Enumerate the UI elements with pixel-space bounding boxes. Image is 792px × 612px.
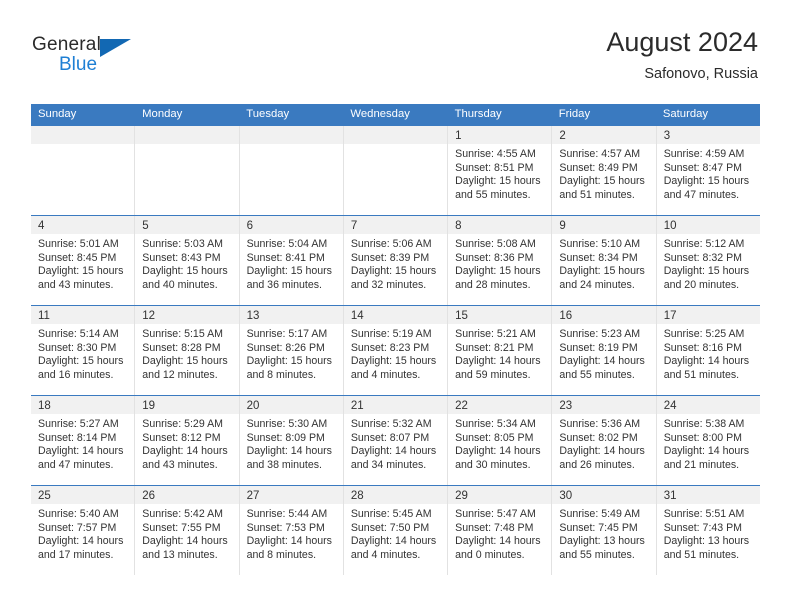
weekday-header-monday: Monday — [135, 104, 239, 125]
calendar-day-cell[interactable]: 30Sunrise: 5:49 AMSunset: 7:45 PMDayligh… — [552, 486, 656, 575]
weekday-header-saturday: Saturday — [656, 104, 760, 125]
calendar-day-cell[interactable]: 7Sunrise: 5:06 AMSunset: 8:39 PMDaylight… — [344, 216, 448, 305]
day-number-band: 6 — [240, 216, 343, 234]
day-number: 15 — [455, 310, 468, 322]
weekday-header-sunday: Sunday — [31, 104, 135, 125]
sunset-text: Sunset: 8:26 PM — [247, 342, 337, 356]
sunset-text: Sunset: 7:57 PM — [38, 522, 128, 536]
daylight-text-line2: and 4 minutes. — [351, 549, 441, 563]
day-number-band: 20 — [240, 396, 343, 414]
daylight-text-line2: and 4 minutes. — [351, 369, 441, 383]
daylight-text-line1: Daylight: 14 hours — [664, 355, 754, 369]
day-number: 9 — [559, 220, 565, 232]
sunrise-text: Sunrise: 4:55 AM — [455, 148, 545, 162]
sunset-text: Sunset: 8:39 PM — [351, 252, 441, 266]
calendar-day-cell[interactable]: 19Sunrise: 5:29 AMSunset: 8:12 PMDayligh… — [135, 396, 239, 485]
day-number-band: 15 — [448, 306, 551, 324]
daylight-text-line1: Daylight: 14 hours — [559, 355, 649, 369]
calendar-day-cell[interactable]: 17Sunrise: 5:25 AMSunset: 8:16 PMDayligh… — [657, 306, 760, 395]
day-number-band: 28 — [344, 486, 447, 504]
calendar-cell-empty — [240, 126, 344, 215]
daylight-text-line2: and 20 minutes. — [664, 279, 754, 293]
day-sun-info: Sunrise: 5:10 AMSunset: 8:34 PMDaylight:… — [552, 234, 655, 292]
daylight-text-line1: Daylight: 14 hours — [351, 445, 441, 459]
day-sun-info: Sunrise: 5:29 AMSunset: 8:12 PMDaylight:… — [135, 414, 238, 472]
day-sun-info: Sunrise: 5:06 AMSunset: 8:39 PMDaylight:… — [344, 234, 447, 292]
day-number: 28 — [351, 490, 364, 502]
day-number: 17 — [664, 310, 677, 322]
sunset-text: Sunset: 8:45 PM — [38, 252, 128, 266]
calendar-day-cell[interactable]: 23Sunrise: 5:36 AMSunset: 8:02 PMDayligh… — [552, 396, 656, 485]
day-number: 19 — [142, 400, 155, 412]
daylight-text-line1: Daylight: 14 hours — [247, 535, 337, 549]
day-number-band: 27 — [240, 486, 343, 504]
day-number-band: 8 — [448, 216, 551, 234]
day-sun-info: Sunrise: 5:32 AMSunset: 8:07 PMDaylight:… — [344, 414, 447, 472]
day-sun-info: Sunrise: 5:15 AMSunset: 8:28 PMDaylight:… — [135, 324, 238, 382]
calendar-day-cell[interactable]: 18Sunrise: 5:27 AMSunset: 8:14 PMDayligh… — [31, 396, 135, 485]
sunrise-text: Sunrise: 5:34 AM — [455, 418, 545, 432]
sunset-text: Sunset: 8:32 PM — [664, 252, 754, 266]
sunrise-text: Sunrise: 4:59 AM — [664, 148, 754, 162]
day-number: 23 — [559, 400, 572, 412]
calendar-day-cell[interactable]: 4Sunrise: 5:01 AMSunset: 8:45 PMDaylight… — [31, 216, 135, 305]
daylight-text-line1: Daylight: 13 hours — [559, 535, 649, 549]
day-number-band: 11 — [31, 306, 134, 324]
day-number: 18 — [38, 400, 51, 412]
calendar-day-cell[interactable]: 28Sunrise: 5:45 AMSunset: 7:50 PMDayligh… — [344, 486, 448, 575]
sunset-text: Sunset: 8:51 PM — [455, 162, 545, 176]
day-number-band: 30 — [552, 486, 655, 504]
daylight-text-line1: Daylight: 13 hours — [664, 535, 754, 549]
sunset-text: Sunset: 8:14 PM — [38, 432, 128, 446]
daylight-text-line2: and 24 minutes. — [559, 279, 649, 293]
day-number: 27 — [247, 490, 260, 502]
daylight-text-line2: and 36 minutes. — [247, 279, 337, 293]
sunrise-text: Sunrise: 5:29 AM — [142, 418, 232, 432]
daylight-text-line1: Daylight: 15 hours — [142, 355, 232, 369]
weekday-header-wednesday: Wednesday — [343, 104, 447, 125]
sunrise-text: Sunrise: 5:45 AM — [351, 508, 441, 522]
daylight-text-line2: and 47 minutes. — [664, 189, 754, 203]
daylight-text-line2: and 30 minutes. — [455, 459, 545, 473]
weekday-header-thursday: Thursday — [448, 104, 552, 125]
sunset-text: Sunset: 8:05 PM — [455, 432, 545, 446]
calendar-weeks: 1Sunrise: 4:55 AMSunset: 8:51 PMDaylight… — [31, 125, 760, 575]
day-sun-info: Sunrise: 5:19 AMSunset: 8:23 PMDaylight:… — [344, 324, 447, 382]
daylight-text-line2: and 47 minutes. — [38, 459, 128, 473]
calendar-day-cell[interactable]: 14Sunrise: 5:19 AMSunset: 8:23 PMDayligh… — [344, 306, 448, 395]
daylight-text-line1: Daylight: 15 hours — [247, 355, 337, 369]
day-number: 21 — [351, 400, 364, 412]
calendar-week-row: 11Sunrise: 5:14 AMSunset: 8:30 PMDayligh… — [31, 305, 760, 395]
sunset-text: Sunset: 8:16 PM — [664, 342, 754, 356]
day-number: 12 — [142, 310, 155, 322]
day-number: 25 — [38, 490, 51, 502]
daylight-text-line1: Daylight: 14 hours — [351, 535, 441, 549]
sunset-text: Sunset: 7:50 PM — [351, 522, 441, 536]
daylight-text-line2: and 8 minutes. — [247, 369, 337, 383]
day-number: 14 — [351, 310, 364, 322]
sunset-text: Sunset: 8:47 PM — [664, 162, 754, 176]
day-sun-info: Sunrise: 4:57 AMSunset: 8:49 PMDaylight:… — [552, 144, 655, 202]
sunrise-text: Sunrise: 5:49 AM — [559, 508, 649, 522]
day-number: 2 — [559, 130, 565, 142]
day-sun-info: Sunrise: 5:38 AMSunset: 8:00 PMDaylight:… — [657, 414, 760, 472]
day-number-band: 25 — [31, 486, 134, 504]
sunrise-text: Sunrise: 5:17 AM — [247, 328, 337, 342]
sunset-text: Sunset: 8:43 PM — [142, 252, 232, 266]
day-number: 22 — [455, 400, 468, 412]
sunrise-text: Sunrise: 5:47 AM — [455, 508, 545, 522]
weekday-header-friday: Friday — [552, 104, 656, 125]
sunset-text: Sunset: 8:30 PM — [38, 342, 128, 356]
calendar-day-cell[interactable]: 15Sunrise: 5:21 AMSunset: 8:21 PMDayligh… — [448, 306, 552, 395]
daylight-text-line2: and 12 minutes. — [142, 369, 232, 383]
page-title: August 2024 — [606, 26, 758, 58]
day-sun-info: Sunrise: 5:12 AMSunset: 8:32 PMDaylight:… — [657, 234, 760, 292]
sunset-text: Sunset: 8:02 PM — [559, 432, 649, 446]
day-number-band: 16 — [552, 306, 655, 324]
daylight-text-line2: and 38 minutes. — [247, 459, 337, 473]
day-sun-info: Sunrise: 5:30 AMSunset: 8:09 PMDaylight:… — [240, 414, 343, 472]
calendar-day-cell[interactable]: 13Sunrise: 5:17 AMSunset: 8:26 PMDayligh… — [240, 306, 344, 395]
calendar-day-cell[interactable]: 5Sunrise: 5:03 AMSunset: 8:43 PMDaylight… — [135, 216, 239, 305]
sunrise-text: Sunrise: 5:03 AM — [142, 238, 232, 252]
daylight-text-line1: Daylight: 14 hours — [664, 445, 754, 459]
day-number: 30 — [559, 490, 572, 502]
daylight-text-line1: Daylight: 14 hours — [247, 445, 337, 459]
daylight-text-line1: Daylight: 15 hours — [38, 355, 128, 369]
day-number: 7 — [351, 220, 357, 232]
daylight-text-line2: and 0 minutes. — [455, 549, 545, 563]
daylight-text-line2: and 26 minutes. — [559, 459, 649, 473]
calendar-day-cell[interactable]: 10Sunrise: 5:12 AMSunset: 8:32 PMDayligh… — [657, 216, 760, 305]
sunset-text: Sunset: 8:23 PM — [351, 342, 441, 356]
sunset-text: Sunset: 8:00 PM — [664, 432, 754, 446]
day-sun-info: Sunrise: 4:59 AMSunset: 8:47 PMDaylight:… — [657, 144, 760, 202]
daylight-text-line2: and 40 minutes. — [142, 279, 232, 293]
daylight-text-line2: and 59 minutes. — [455, 369, 545, 383]
day-number-band: 17 — [657, 306, 760, 324]
sunrise-text: Sunrise: 5:38 AM — [664, 418, 754, 432]
sunset-text: Sunset: 8:49 PM — [559, 162, 649, 176]
day-sun-info: Sunrise: 5:01 AMSunset: 8:45 PMDaylight:… — [31, 234, 134, 292]
sunrise-text: Sunrise: 5:14 AM — [38, 328, 128, 342]
daylight-text-line1: Daylight: 14 hours — [38, 535, 128, 549]
day-sun-info: Sunrise: 5:42 AMSunset: 7:55 PMDaylight:… — [135, 504, 238, 562]
calendar-day-cell[interactable]: 16Sunrise: 5:23 AMSunset: 8:19 PMDayligh… — [552, 306, 656, 395]
calendar-week-row: 25Sunrise: 5:40 AMSunset: 7:57 PMDayligh… — [31, 485, 760, 575]
day-sun-info: Sunrise: 5:14 AMSunset: 8:30 PMDaylight:… — [31, 324, 134, 382]
sunset-text: Sunset: 8:28 PM — [142, 342, 232, 356]
calendar-day-cell[interactable]: 12Sunrise: 5:15 AMSunset: 8:28 PMDayligh… — [135, 306, 239, 395]
logo-text-general: General — [32, 34, 101, 56]
sunrise-text: Sunrise: 5:32 AM — [351, 418, 441, 432]
calendar-grid: Sunday Monday Tuesday Wednesday Thursday… — [31, 104, 760, 575]
day-sun-info: Sunrise: 5:17 AMSunset: 8:26 PMDaylight:… — [240, 324, 343, 382]
day-number-band: 2 — [552, 126, 655, 144]
page-subtitle: Safonovo, Russia — [606, 64, 758, 84]
day-number-band — [135, 126, 238, 144]
daylight-text-line1: Daylight: 15 hours — [664, 265, 754, 279]
calendar-cell-empty — [31, 126, 135, 215]
calendar-day-cell[interactable]: 1Sunrise: 4:55 AMSunset: 8:51 PMDaylight… — [448, 126, 552, 215]
day-number-band: 10 — [657, 216, 760, 234]
day-number: 29 — [455, 490, 468, 502]
sunset-text: Sunset: 7:53 PM — [247, 522, 337, 536]
day-sun-info: Sunrise: 5:25 AMSunset: 8:16 PMDaylight:… — [657, 324, 760, 382]
sunset-text: Sunset: 8:07 PM — [351, 432, 441, 446]
sunrise-text: Sunrise: 5:36 AM — [559, 418, 649, 432]
page-header: General Blue August 2024 Safonovo, Russi… — [32, 26, 758, 96]
calendar-day-cell[interactable]: 20Sunrise: 5:30 AMSunset: 8:09 PMDayligh… — [240, 396, 344, 485]
daylight-text-line1: Daylight: 14 hours — [455, 445, 545, 459]
daylight-text-line1: Daylight: 15 hours — [559, 175, 649, 189]
day-sun-info: Sunrise: 5:21 AMSunset: 8:21 PMDaylight:… — [448, 324, 551, 382]
calendar-day-cell[interactable]: 9Sunrise: 5:10 AMSunset: 8:34 PMDaylight… — [552, 216, 656, 305]
day-sun-info: Sunrise: 5:51 AMSunset: 7:43 PMDaylight:… — [657, 504, 760, 562]
sunrise-text: Sunrise: 5:19 AM — [351, 328, 441, 342]
daylight-text-line2: and 17 minutes. — [38, 549, 128, 563]
daylight-text-line1: Daylight: 15 hours — [559, 265, 649, 279]
day-sun-info: Sunrise: 5:40 AMSunset: 7:57 PMDaylight:… — [31, 504, 134, 562]
daylight-text-line2: and 16 minutes. — [38, 369, 128, 383]
daylight-text-line1: Daylight: 15 hours — [142, 265, 232, 279]
calendar-cell-empty — [344, 126, 448, 215]
day-number-band: 23 — [552, 396, 655, 414]
weekday-header-row: Sunday Monday Tuesday Wednesday Thursday… — [31, 104, 760, 125]
calendar-day-cell[interactable]: 6Sunrise: 5:04 AMSunset: 8:41 PMDaylight… — [240, 216, 344, 305]
day-sun-info: Sunrise: 4:55 AMSunset: 8:51 PMDaylight:… — [448, 144, 551, 202]
sunrise-text: Sunrise: 5:04 AM — [247, 238, 337, 252]
day-sun-info: Sunrise: 5:49 AMSunset: 7:45 PMDaylight:… — [552, 504, 655, 562]
day-number-band: 18 — [31, 396, 134, 414]
sunset-text: Sunset: 7:48 PM — [455, 522, 545, 536]
day-number-band: 9 — [552, 216, 655, 234]
calendar-day-cell[interactable]: 8Sunrise: 5:08 AMSunset: 8:36 PMDaylight… — [448, 216, 552, 305]
daylight-text-line2: and 21 minutes. — [664, 459, 754, 473]
daylight-text-line2: and 51 minutes. — [664, 369, 754, 383]
calendar-day-cell[interactable]: 31Sunrise: 5:51 AMSunset: 7:43 PMDayligh… — [657, 486, 760, 575]
day-number-band — [31, 126, 134, 144]
day-number-band: 12 — [135, 306, 238, 324]
sunrise-text: Sunrise: 5:42 AM — [142, 508, 232, 522]
daylight-text-line2: and 13 minutes. — [142, 549, 232, 563]
day-sun-info: Sunrise: 5:08 AMSunset: 8:36 PMDaylight:… — [448, 234, 551, 292]
day-number-band: 21 — [344, 396, 447, 414]
daylight-text-line1: Daylight: 14 hours — [455, 355, 545, 369]
day-number-band: 31 — [657, 486, 760, 504]
daylight-text-line1: Daylight: 15 hours — [455, 265, 545, 279]
sunrise-text: Sunrise: 5:10 AM — [559, 238, 649, 252]
sunrise-text: Sunrise: 5:25 AM — [664, 328, 754, 342]
daylight-text-line1: Daylight: 15 hours — [38, 265, 128, 279]
calendar-day-cell[interactable]: 29Sunrise: 5:47 AMSunset: 7:48 PMDayligh… — [448, 486, 552, 575]
daylight-text-line2: and 32 minutes. — [351, 279, 441, 293]
calendar-week-row: 4Sunrise: 5:01 AMSunset: 8:45 PMDaylight… — [31, 215, 760, 305]
day-number: 3 — [664, 130, 670, 142]
day-number: 4 — [38, 220, 44, 232]
day-sun-info: Sunrise: 5:23 AMSunset: 8:19 PMDaylight:… — [552, 324, 655, 382]
logo-text-blue: Blue — [59, 54, 97, 76]
weekday-header-tuesday: Tuesday — [239, 104, 343, 125]
daylight-text-line2: and 28 minutes. — [455, 279, 545, 293]
calendar-cell-empty — [135, 126, 239, 215]
day-number: 31 — [664, 490, 677, 502]
sunrise-text: Sunrise: 5:21 AM — [455, 328, 545, 342]
daylight-text-line2: and 51 minutes. — [559, 189, 649, 203]
daylight-text-line2: and 55 minutes. — [559, 369, 649, 383]
day-number-band: 13 — [240, 306, 343, 324]
calendar-page: General Blue August 2024 Safonovo, Russi… — [0, 0, 792, 612]
sunrise-text: Sunrise: 5:27 AM — [38, 418, 128, 432]
day-number: 1 — [455, 130, 461, 142]
sunrise-text: Sunrise: 4:57 AM — [559, 148, 649, 162]
title-block: August 2024 Safonovo, Russia — [606, 26, 758, 84]
daylight-text-line2: and 55 minutes. — [455, 189, 545, 203]
day-sun-info: Sunrise: 5:47 AMSunset: 7:48 PMDaylight:… — [448, 504, 551, 562]
sunrise-text: Sunrise: 5:06 AM — [351, 238, 441, 252]
calendar-day-cell[interactable]: 22Sunrise: 5:34 AMSunset: 8:05 PMDayligh… — [448, 396, 552, 485]
sunset-text: Sunset: 7:55 PM — [142, 522, 232, 536]
day-number-band: 29 — [448, 486, 551, 504]
day-number-band — [344, 126, 447, 144]
sunset-text: Sunset: 8:21 PM — [455, 342, 545, 356]
daylight-text-line2: and 43 minutes. — [142, 459, 232, 473]
sunset-text: Sunset: 8:41 PM — [247, 252, 337, 266]
daylight-text-line1: Daylight: 15 hours — [351, 265, 441, 279]
sunrise-text: Sunrise: 5:40 AM — [38, 508, 128, 522]
sunset-text: Sunset: 8:09 PM — [247, 432, 337, 446]
calendar-day-cell[interactable]: 2Sunrise: 4:57 AMSunset: 8:49 PMDaylight… — [552, 126, 656, 215]
day-sun-info: Sunrise: 5:03 AMSunset: 8:43 PMDaylight:… — [135, 234, 238, 292]
sunrise-text: Sunrise: 5:51 AM — [664, 508, 754, 522]
day-number: 5 — [142, 220, 148, 232]
day-number: 16 — [559, 310, 572, 322]
day-sun-info: Sunrise: 5:45 AMSunset: 7:50 PMDaylight:… — [344, 504, 447, 562]
calendar-day-cell[interactable]: 26Sunrise: 5:42 AMSunset: 7:55 PMDayligh… — [135, 486, 239, 575]
day-number: 11 — [38, 310, 50, 322]
day-number-band: 4 — [31, 216, 134, 234]
calendar-day-cell[interactable]: 11Sunrise: 5:14 AMSunset: 8:30 PMDayligh… — [31, 306, 135, 395]
sunrise-text: Sunrise: 5:01 AM — [38, 238, 128, 252]
daylight-text-line2: and 55 minutes. — [559, 549, 649, 563]
sunset-text: Sunset: 7:45 PM — [559, 522, 649, 536]
day-sun-info: Sunrise: 5:36 AMSunset: 8:02 PMDaylight:… — [552, 414, 655, 472]
sunrise-text: Sunrise: 5:12 AM — [664, 238, 754, 252]
daylight-text-line1: Daylight: 14 hours — [142, 535, 232, 549]
day-number: 10 — [664, 220, 677, 232]
daylight-text-line2: and 34 minutes. — [351, 459, 441, 473]
daylight-text-line1: Daylight: 15 hours — [351, 355, 441, 369]
daylight-text-line1: Daylight: 14 hours — [142, 445, 232, 459]
day-number: 26 — [142, 490, 155, 502]
day-number: 20 — [247, 400, 260, 412]
calendar-day-cell[interactable]: 3Sunrise: 4:59 AMSunset: 8:47 PMDaylight… — [657, 126, 760, 215]
day-number-band: 22 — [448, 396, 551, 414]
day-number-band: 26 — [135, 486, 238, 504]
day-number: 24 — [664, 400, 677, 412]
sunrise-text: Sunrise: 5:30 AM — [247, 418, 337, 432]
daylight-text-line1: Daylight: 14 hours — [455, 535, 545, 549]
day-number-band: 24 — [657, 396, 760, 414]
daylight-text-line2: and 43 minutes. — [38, 279, 128, 293]
sunrise-text: Sunrise: 5:08 AM — [455, 238, 545, 252]
calendar-day-cell[interactable]: 27Sunrise: 5:44 AMSunset: 7:53 PMDayligh… — [240, 486, 344, 575]
logo-triangle-icon — [100, 39, 131, 57]
day-number-band: 19 — [135, 396, 238, 414]
daylight-text-line2: and 8 minutes. — [247, 549, 337, 563]
day-sun-info: Sunrise: 5:04 AMSunset: 8:41 PMDaylight:… — [240, 234, 343, 292]
day-sun-info: Sunrise: 5:34 AMSunset: 8:05 PMDaylight:… — [448, 414, 551, 472]
sunrise-text: Sunrise: 5:15 AM — [142, 328, 232, 342]
sunset-text: Sunset: 8:36 PM — [455, 252, 545, 266]
day-number: 8 — [455, 220, 461, 232]
general-blue-logo[interactable]: General Blue — [32, 34, 152, 82]
day-number-band: 7 — [344, 216, 447, 234]
daylight-text-line1: Daylight: 15 hours — [247, 265, 337, 279]
day-number-band: 5 — [135, 216, 238, 234]
calendar-week-row: 1Sunrise: 4:55 AMSunset: 8:51 PMDaylight… — [31, 125, 760, 215]
daylight-text-line2: and 51 minutes. — [664, 549, 754, 563]
sunset-text: Sunset: 8:12 PM — [142, 432, 232, 446]
daylight-text-line1: Daylight: 15 hours — [664, 175, 754, 189]
calendar-day-cell[interactable]: 21Sunrise: 5:32 AMSunset: 8:07 PMDayligh… — [344, 396, 448, 485]
calendar-week-row: 18Sunrise: 5:27 AMSunset: 8:14 PMDayligh… — [31, 395, 760, 485]
sunset-text: Sunset: 8:19 PM — [559, 342, 649, 356]
daylight-text-line1: Daylight: 15 hours — [455, 175, 545, 189]
sunrise-text: Sunrise: 5:44 AM — [247, 508, 337, 522]
calendar-day-cell[interactable]: 24Sunrise: 5:38 AMSunset: 8:00 PMDayligh… — [657, 396, 760, 485]
daylight-text-line1: Daylight: 14 hours — [38, 445, 128, 459]
day-number-band: 1 — [448, 126, 551, 144]
daylight-text-line1: Daylight: 14 hours — [559, 445, 649, 459]
day-number-band: 3 — [657, 126, 760, 144]
sunset-text: Sunset: 8:34 PM — [559, 252, 649, 266]
sunset-text: Sunset: 7:43 PM — [664, 522, 754, 536]
day-number-band — [240, 126, 343, 144]
day-number: 13 — [247, 310, 260, 322]
calendar-day-cell[interactable]: 25Sunrise: 5:40 AMSunset: 7:57 PMDayligh… — [31, 486, 135, 575]
day-sun-info: Sunrise: 5:44 AMSunset: 7:53 PMDaylight:… — [240, 504, 343, 562]
day-number-band: 14 — [344, 306, 447, 324]
day-sun-info: Sunrise: 5:27 AMSunset: 8:14 PMDaylight:… — [31, 414, 134, 472]
sunrise-text: Sunrise: 5:23 AM — [559, 328, 649, 342]
day-number: 6 — [247, 220, 253, 232]
